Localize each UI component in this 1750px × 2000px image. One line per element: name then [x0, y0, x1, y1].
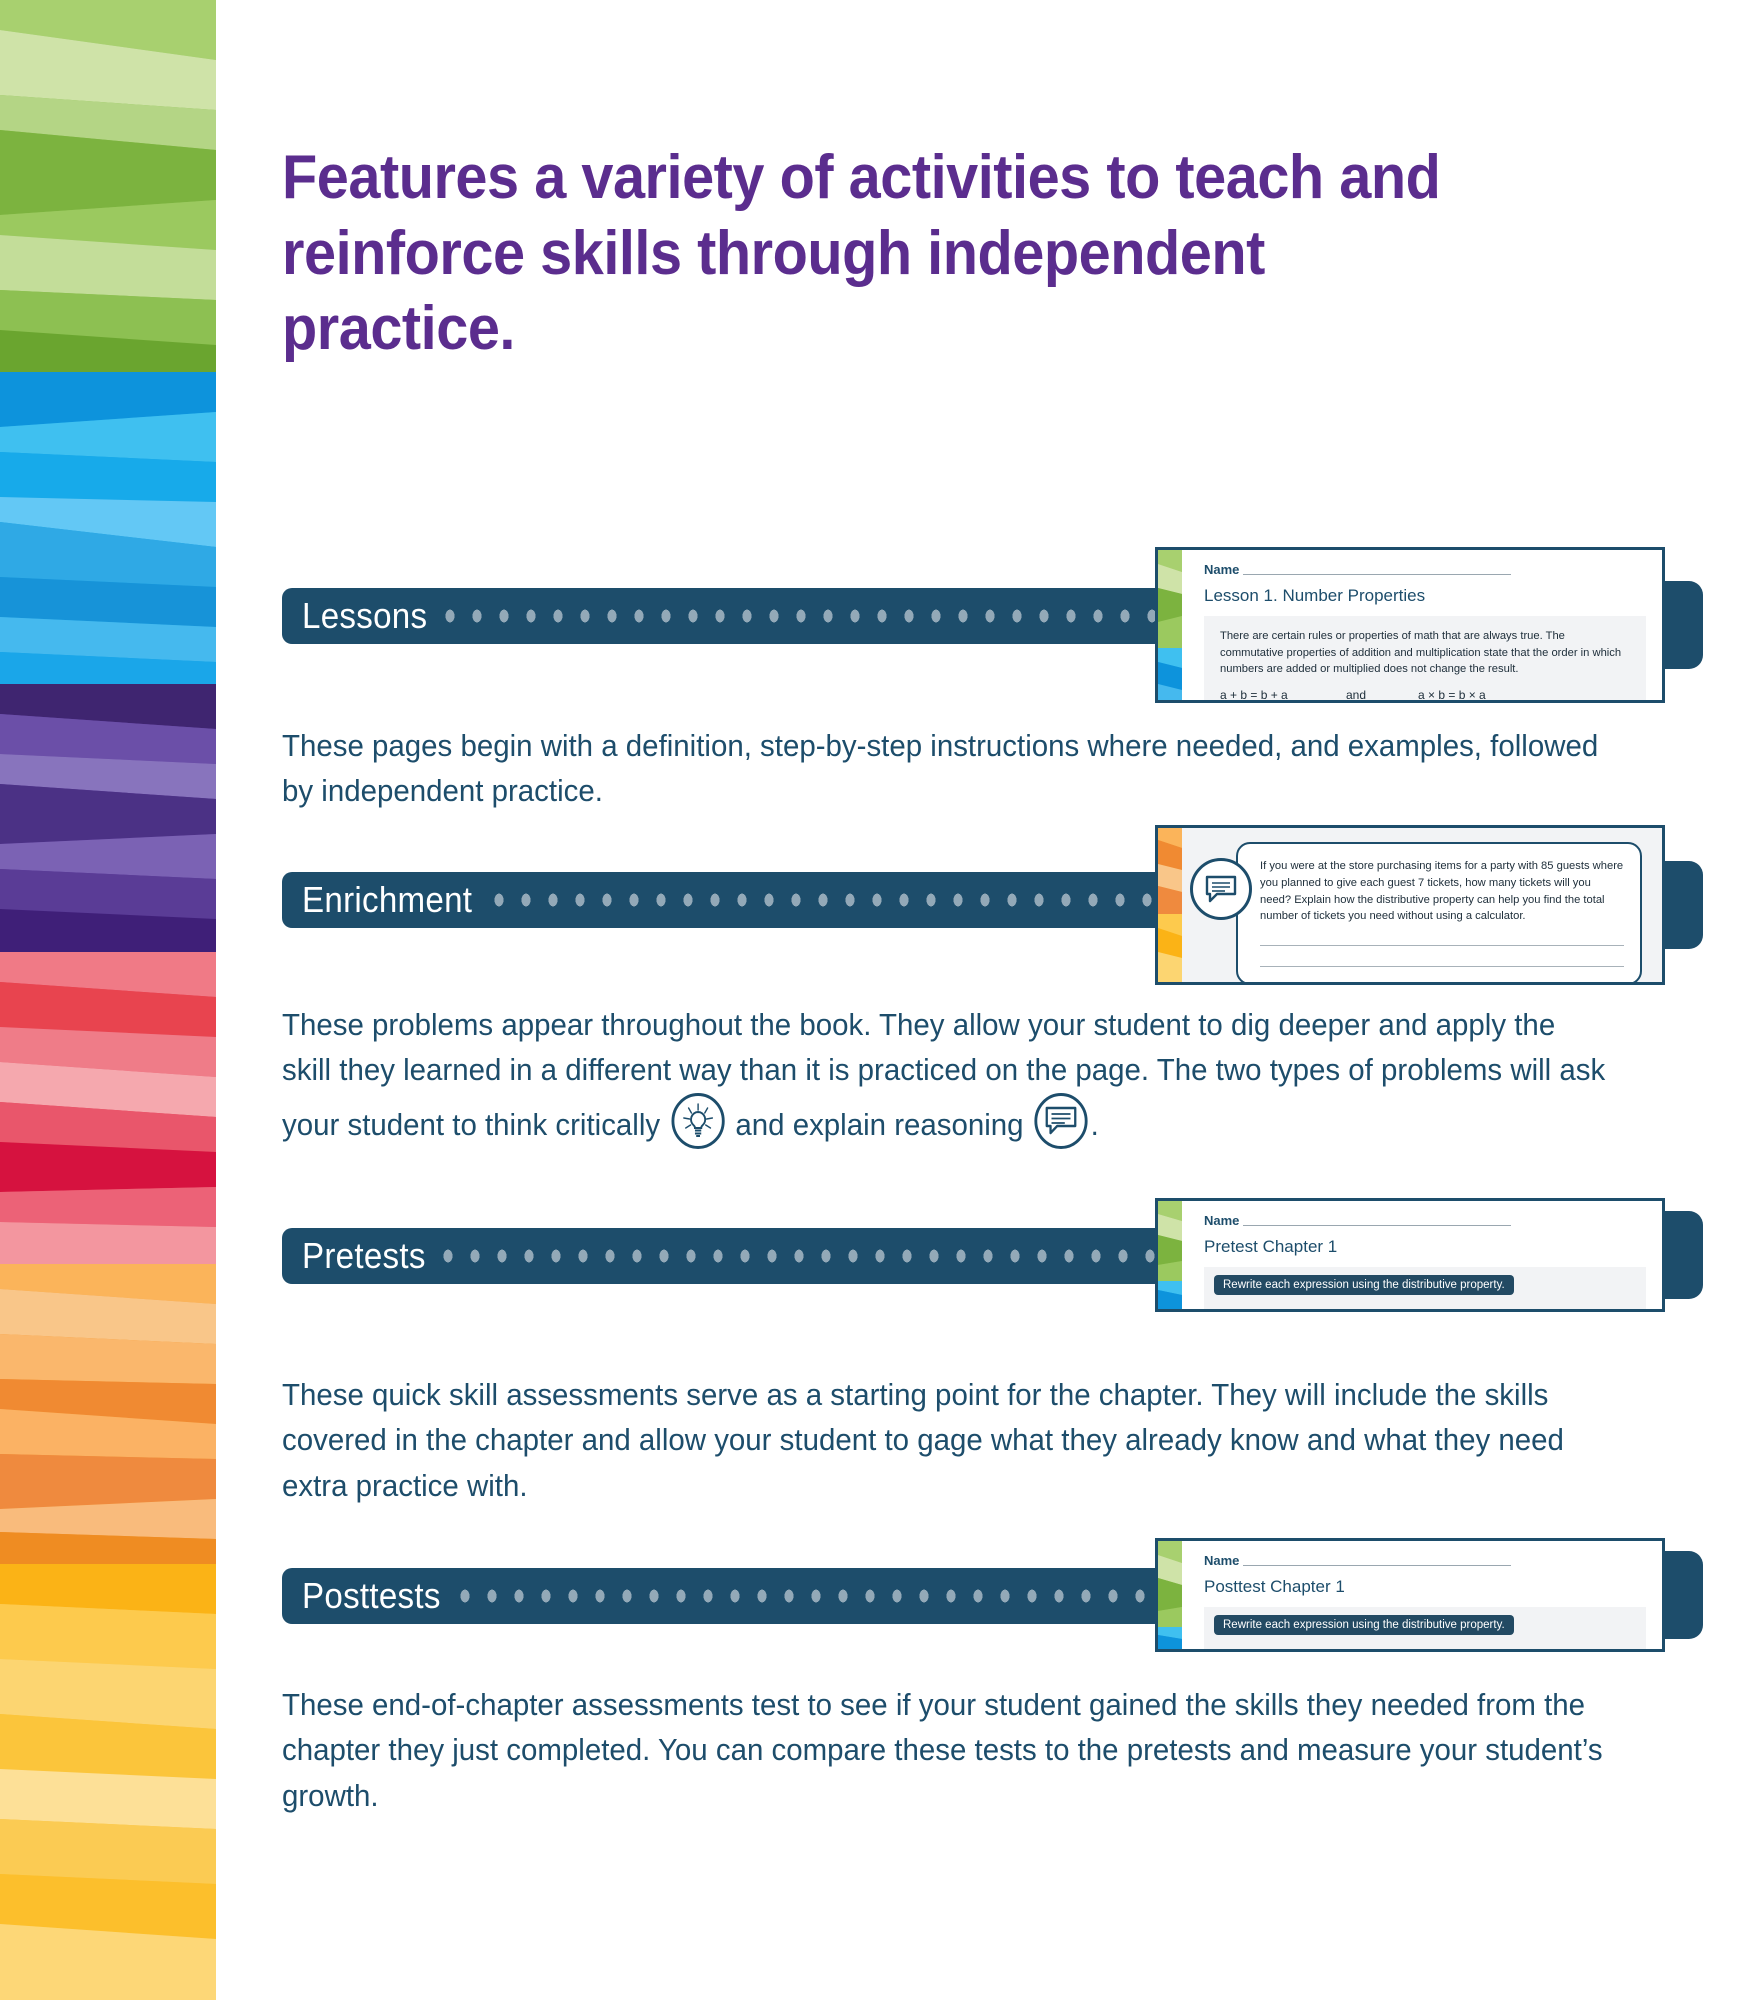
card-color-strip: [1158, 550, 1182, 700]
description-posttests: These end-of-chapter assessments test to…: [282, 1682, 1612, 1818]
color-band-yellow: [0, 1564, 216, 2000]
posttest-preview-card[interactable]: Name Posttest Chapter 1 Rewrite each exp…: [1155, 1538, 1665, 1652]
name-field-row: Name: [1204, 1213, 1646, 1228]
color-band-green: [0, 0, 216, 372]
lesson-content-box: There are certain rules or properties of…: [1204, 616, 1646, 703]
banner-enrichment[interactable]: Enrichment: [282, 872, 1172, 928]
banner-label-posttests: Posttests: [302, 1575, 441, 1617]
equation-row-1: a + b = b + a and a × b = b × a: [1220, 688, 1630, 702]
dotted-leader: [438, 1228, 1172, 1284]
speech-bubble-icon: [1190, 858, 1252, 920]
lesson-preview-card[interactable]: Name Lesson 1. Number Properties There a…: [1155, 547, 1665, 703]
pretest-title: Pretest Chapter 1: [1204, 1237, 1646, 1257]
name-label: Name: [1204, 1213, 1239, 1228]
enrichment-text-part-3: .: [1091, 1107, 1099, 1142]
posttest-title: Posttest Chapter 1: [1204, 1577, 1646, 1597]
name-label: Name: [1204, 1553, 1239, 1568]
equation-joiner: and: [1346, 688, 1418, 702]
instruction-chip: Rewrite each expression using the distri…: [1214, 1615, 1514, 1635]
description-pretests: These quick skill assessments serve as a…: [282, 1372, 1612, 1508]
dotted-leader: [440, 588, 1172, 644]
page-root: Features a variety of activities to teac…: [0, 0, 1750, 2000]
dotted-leader: [489, 872, 1172, 928]
name-field-row: Name: [1204, 1553, 1646, 1568]
instruction-chip: Rewrite each expression using the distri…: [1214, 1275, 1514, 1295]
answer-line: [1260, 966, 1624, 967]
banner-label-pretests: Pretests: [302, 1235, 426, 1277]
name-field-row: Name: [1204, 562, 1646, 577]
banner-label-lessons: Lessons: [302, 595, 427, 637]
card-color-strip: [1158, 1541, 1182, 1649]
banner-pretests[interactable]: Pretests: [282, 1228, 1172, 1284]
decorative-color-strip: [0, 0, 216, 2000]
name-write-line: [1243, 1225, 1511, 1226]
enrichment-prompt: If you were at the store purchasing item…: [1260, 858, 1624, 925]
name-write-line: [1243, 1565, 1511, 1566]
enrichment-text-part-2: and explain reasoning: [727, 1107, 1032, 1142]
color-band-blue: [0, 372, 216, 684]
lesson-title: Lesson 1. Number Properties: [1204, 586, 1646, 606]
page-headline: Features a variety of activities to teac…: [282, 140, 1454, 367]
card-color-strip: [1158, 1201, 1182, 1309]
answer-line: [1260, 945, 1624, 946]
color-band-orange: [0, 1264, 216, 1564]
enrichment-preview-card[interactable]: If you were at the store purchasing item…: [1155, 825, 1665, 985]
speech-bubble-icon: [1035, 1093, 1088, 1149]
equation-right: a × b = b × a: [1418, 688, 1486, 702]
description-lessons: These pages begin with a definition, ste…: [282, 723, 1612, 814]
name-label: Name: [1204, 562, 1239, 577]
color-band-purple: [0, 684, 216, 952]
name-write-line: [1243, 574, 1511, 575]
equation-left: a + b = b + a: [1220, 688, 1346, 702]
posttest-content-box: Rewrite each expression using the distri…: [1204, 1607, 1646, 1649]
banner-lessons[interactable]: Lessons: [282, 588, 1172, 644]
description-enrichment: These problems appear throughout the boo…: [282, 1002, 1612, 1149]
dotted-leader: [455, 1568, 1172, 1624]
pretest-content-box: Rewrite each expression using the distri…: [1204, 1267, 1646, 1309]
color-band-red: [0, 952, 216, 1264]
card-color-strip: [1158, 828, 1182, 982]
banner-posttests[interactable]: Posttests: [282, 1568, 1172, 1624]
banner-label-enrichment: Enrichment: [302, 879, 472, 921]
enrichment-question-box: If you were at the store purchasing item…: [1236, 842, 1642, 985]
lightbulb-icon: [671, 1093, 724, 1149]
lesson-paragraph: There are certain rules or properties of…: [1220, 628, 1630, 678]
pretest-preview-card[interactable]: Name Pretest Chapter 1 Rewrite each expr…: [1155, 1198, 1665, 1312]
